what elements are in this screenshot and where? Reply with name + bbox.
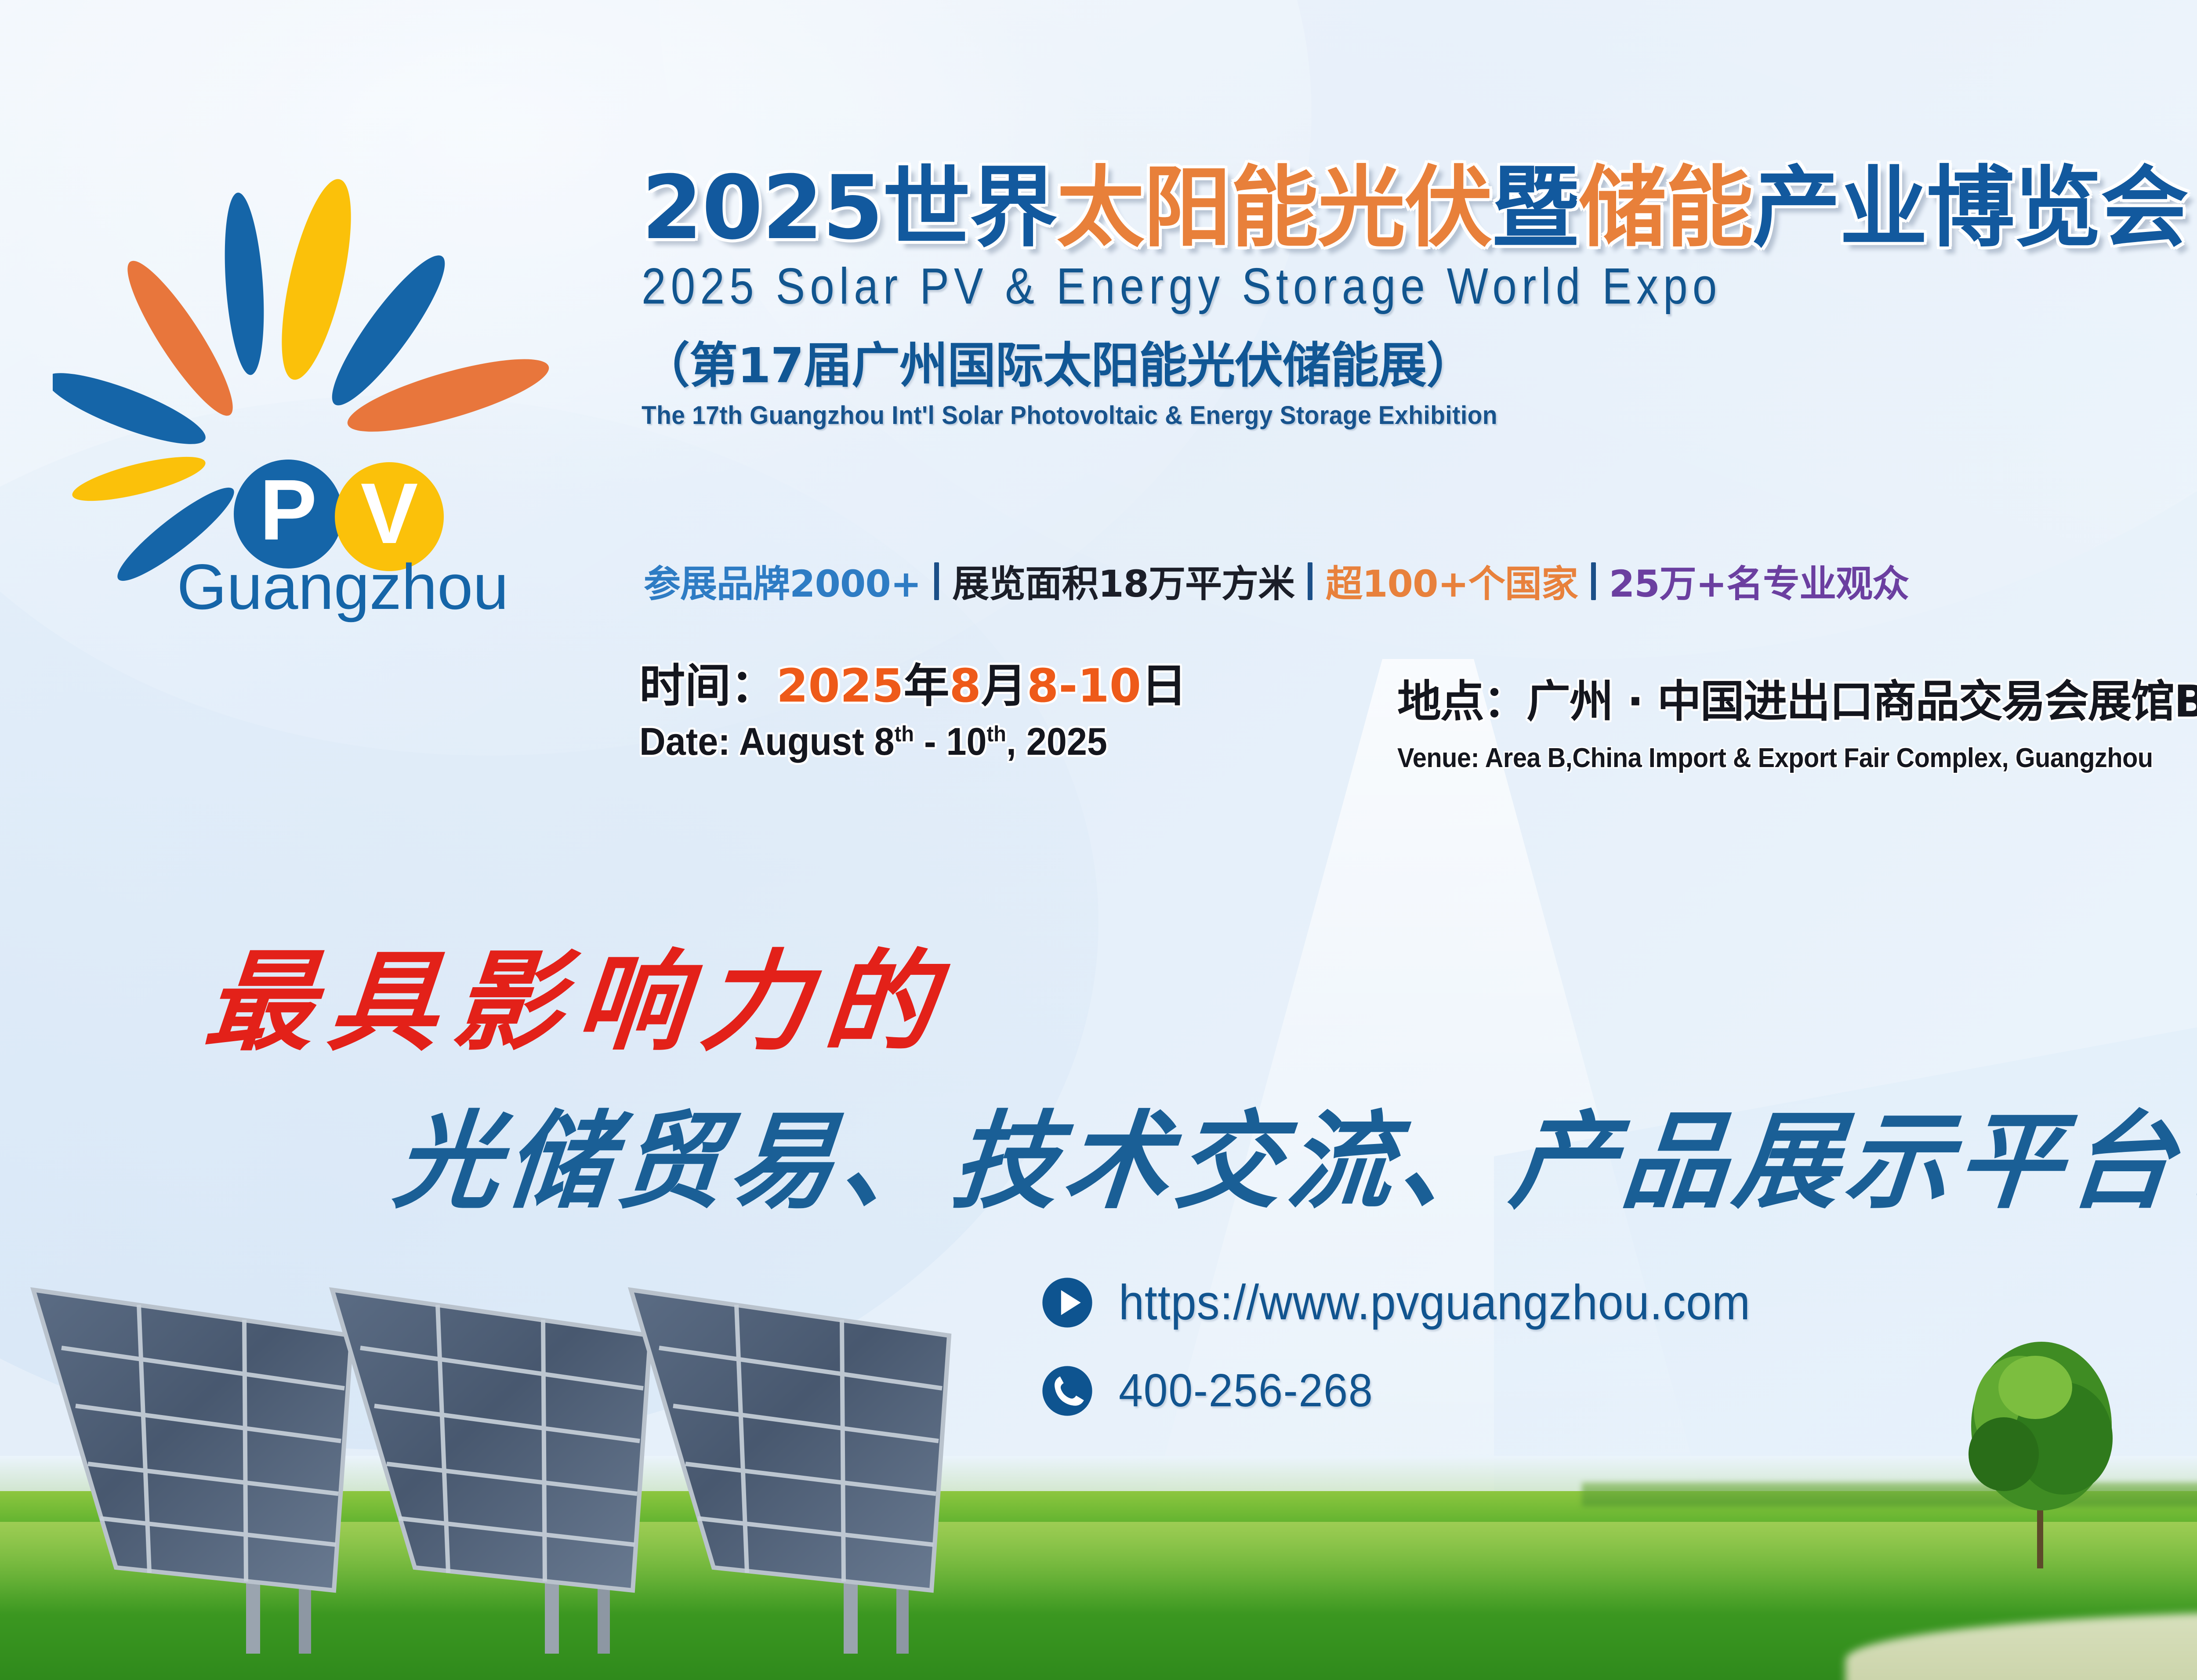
venue-line-en: Venue: Area B,China Import & Export Fair… (1397, 742, 2190, 774)
phone-row[interactable]: 400-256-268 (1041, 1364, 1798, 1417)
play-circle-icon (1041, 1277, 1093, 1329)
stats-strip: 参展品牌2000+展览面积18万平方米超100+个国家25万+名专业观众 (644, 554, 1909, 608)
solar-panel-2 (332, 1290, 650, 1590)
pv-guangzhou-logo: P V Guangzhou (53, 176, 571, 624)
venue-label-cn: 地点： (1397, 676, 1526, 727)
tree-left (1951, 1342, 2135, 1570)
phone-number[interactable]: 400-256-268 (1119, 1364, 1374, 1417)
slogan-line-2: 光储贸易、技术交流、产品展示平台！ (389, 1076, 2197, 1229)
main-title-part-1: 2025 (642, 157, 883, 259)
subtitle-en: The 17th Guangzhou Int'l Solar Photovolt… (642, 401, 2197, 430)
solar-panel-1 (33, 1290, 352, 1590)
main-title-part-5: 储能 (1579, 157, 1753, 259)
date-year: 2025 (776, 659, 903, 713)
main-title-part-2: 世界 (883, 157, 1057, 259)
stat-countries: 超100+个国家 (1326, 562, 1578, 605)
main-title-part-3: 太阳能光伏 (1057, 157, 1492, 259)
stat-area: 展览面积18万平方米 (952, 562, 1294, 605)
date-line-en: Date: August 8th - 10th, 2025 (639, 719, 1154, 764)
main-title-part-4: 暨 (1492, 157, 1579, 259)
subtitle-cn: （第17届广州国际太阳能光伏储能展） (642, 326, 2197, 396)
date-days: 8-10 (1027, 659, 1141, 713)
venue-value-cn: 广州 · 中国进出口商品交易会展馆B区 (1526, 676, 2197, 727)
stat-separator-1 (934, 562, 939, 600)
date-en-mid: - 10 (914, 720, 987, 763)
stat-separator-3 (1591, 562, 1596, 600)
date-block: 时间：2025年8月8-10日 Date: August 8th - 10th,… (639, 659, 1187, 764)
stat-brands: 参展品牌2000+ (644, 562, 921, 605)
main-title-cn: 2025世界太阳能光伏暨储能产业博览会 (642, 163, 2197, 254)
main-title-part-6: 产业博览会 (1753, 157, 2188, 259)
date-year-unit: 年 (903, 659, 949, 713)
venue-block: 地点：广州 · 中国进出口商品交易会展馆B区 Venue: Area B,Chi… (1397, 666, 2197, 774)
date-en-prefix: Date: August 8 (639, 720, 895, 763)
contact-block: https://www.pvguangzhou.com 400-256-268 (1041, 1274, 1798, 1451)
date-day-unit: 日 (1141, 659, 1187, 713)
date-en-ordinal-2: th (987, 721, 1006, 746)
solar-panel-3 (631, 1290, 949, 1590)
venue-line-cn: 地点：广州 · 中国进出口商品交易会展馆B区 (1397, 666, 2197, 729)
slogan-line-1: 最具影响力的 (199, 914, 957, 1072)
date-month-unit: 月 (981, 659, 1027, 713)
header-text-block: 2025世界太阳能光伏暨储能产业博览会 2025 Solar PV & Ener… (642, 163, 2197, 430)
date-en-ordinal-1: th (895, 721, 914, 746)
stat-visitors: 25万+名专业观众 (1609, 562, 1909, 605)
stat-separator-2 (1308, 562, 1312, 600)
date-line-cn: 时间：2025年8月8-10日 (639, 659, 1187, 713)
website-row[interactable]: https://www.pvguangzhou.com (1041, 1274, 1798, 1331)
date-label-cn: 时间： (639, 659, 776, 713)
logo-wordmark: Guangzhou (177, 551, 509, 623)
svg-text:V: V (361, 465, 418, 561)
date-month: 8 (949, 659, 981, 713)
website-url[interactable]: https://www.pvguangzhou.com (1119, 1274, 1751, 1331)
main-title-en: 2025 Solar PV & Energy Storage World Exp… (642, 257, 2197, 315)
solar-panel-array (0, 1258, 993, 1654)
phone-circle-icon (1041, 1365, 1093, 1417)
date-en-suffix: , 2025 (1006, 720, 1107, 763)
promo-banner: P V Guangzhou 2025世界太阳能光伏暨储能产业博览会 2025 S… (0, 0, 2197, 1680)
svg-text:P: P (260, 462, 317, 558)
